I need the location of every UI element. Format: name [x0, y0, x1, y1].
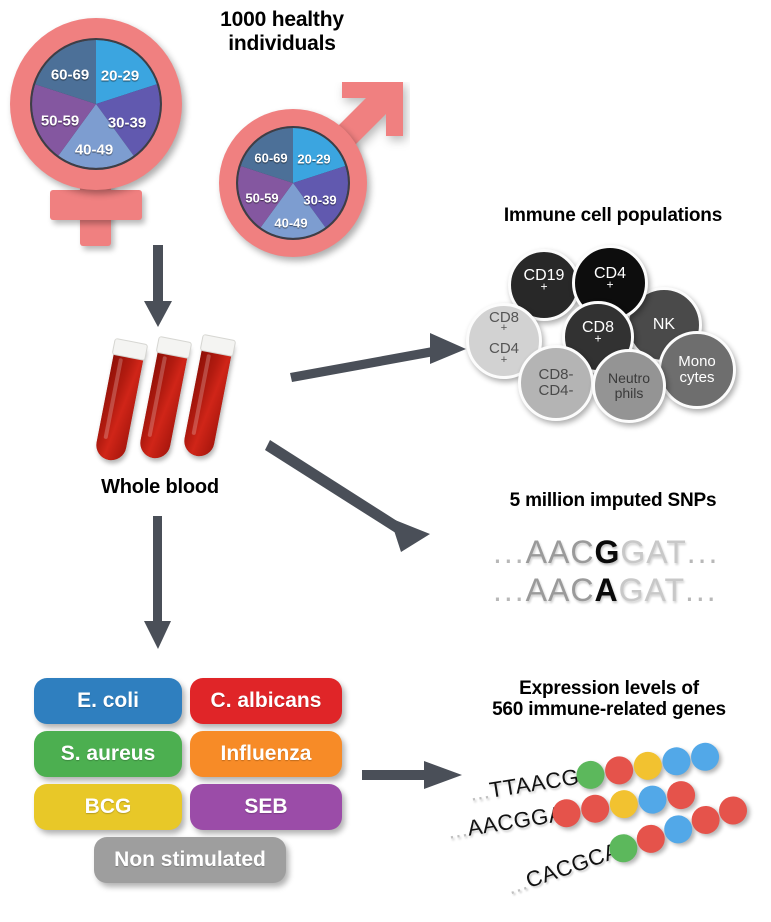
stimulus-influenza[interactable]: Influenza — [190, 731, 342, 777]
stimulus-label: C. albicans — [211, 689, 322, 713]
female-age-label-30-39: 30-39 — [108, 115, 146, 132]
snp-prefix: AAC — [526, 534, 595, 570]
stimulus-label: Non stimulated — [114, 848, 266, 872]
male-gender-symbol: 20-29 30-39 40-49 50-59 60-69 — [205, 82, 410, 250]
cell-dp-line2: CD4+ — [489, 341, 519, 372]
figure-canvas: 1000 healthy individuals 20-29 30-39 — [0, 0, 771, 922]
stimulus-bcg[interactable]: BCG — [34, 784, 182, 830]
stimulus-s-aureus[interactable]: S. aureus — [34, 731, 182, 777]
blood-tubes-group — [108, 340, 248, 475]
stimulus-label: BCG — [85, 795, 132, 819]
cell-neutro-line1: Neutro — [608, 371, 650, 386]
snp-leading-dots: ... — [493, 572, 526, 608]
male-age-pie: 20-29 30-39 40-49 50-59 60-69 — [236, 126, 350, 240]
stimulus-seb[interactable]: SEB — [190, 784, 342, 830]
expression-bead — [632, 750, 664, 782]
cell-mono-line1: Mono — [678, 354, 716, 370]
male-age-label-40-49: 40-49 — [274, 216, 307, 231]
cell-monocytes: Mono cytes — [658, 331, 736, 409]
stimulus-c-albicans[interactable]: C. albicans — [190, 678, 342, 724]
female-age-label-50-59: 50-59 — [41, 113, 79, 130]
snps-title: 5 million imputed SNPs — [455, 490, 771, 511]
snp-sequence-row: ...AACAGAT... — [493, 572, 718, 609]
cell-dn-line2: CD4- — [538, 383, 573, 399]
snp-variant-allele: G — [594, 534, 620, 570]
arrow-cohort-to-blood — [138, 245, 178, 335]
stimulus-non-stimulated[interactable]: Non stimulated — [94, 837, 286, 883]
male-age-label-30-39: 30-39 — [303, 193, 336, 208]
female-gender-symbol: 20-29 30-39 40-49 50-59 60-69 — [10, 18, 185, 243]
cell-mono-line2: cytes — [679, 370, 714, 386]
immune-cells-group: NK CD19+ CD4+ CD8+ CD8+ CD4+ CD8- CD4- N… — [462, 245, 758, 427]
female-age-label-60-69: 60-69 — [51, 67, 89, 84]
cohort-title: 1000 healthy individuals — [176, 8, 388, 55]
female-age-label-20-29: 20-29 — [101, 68, 139, 85]
cell-neutro-line2: phils — [615, 386, 644, 401]
arrow-blood-to-immune-cells — [290, 330, 480, 390]
male-age-label-60-69: 60-69 — [254, 151, 287, 166]
blood-tube — [94, 341, 146, 463]
cell-cd19-label: CD19+ — [524, 268, 565, 301]
arrow-blood-to-snps — [270, 440, 460, 570]
cell-cd4-label: CD4+ — [594, 266, 626, 299]
snp-trailing-dots: ... — [687, 534, 720, 570]
cohort-title-line2: individuals — [176, 32, 388, 56]
expression-bead — [579, 793, 611, 825]
snp-prefix: AAC — [526, 572, 595, 608]
expression-bead — [603, 754, 635, 786]
stimulus-label: Influenza — [220, 742, 311, 766]
expression-title-line1: Expression levels of — [450, 678, 768, 699]
stimulus-label: E. coli — [77, 689, 139, 713]
cohort-title-line1: 1000 healthy — [176, 8, 388, 32]
expression-title-line2: 560 immune-related genes — [450, 699, 768, 720]
cell-cd8-cd4-double-negative: CD8- CD4- — [518, 345, 594, 421]
immune-cells-title: Immune cell populations — [455, 205, 771, 226]
snp-leading-dots: ... — [493, 534, 526, 570]
cell-cd8-label: CD8+ — [582, 320, 614, 353]
stimulus-label: SEB — [244, 795, 287, 819]
expression-bead — [608, 788, 640, 820]
snp-trailing-dots: ... — [685, 572, 718, 608]
cell-nk-label: NK — [653, 317, 675, 334]
expression-bead — [660, 745, 692, 777]
female-age-label-40-49: 40-49 — [75, 142, 113, 159]
snp-suffix: GAT — [620, 534, 686, 570]
expression-bead — [636, 784, 668, 816]
stimulus-label: S. aureus — [61, 742, 156, 766]
female-age-pie: 20-29 30-39 40-49 50-59 60-69 — [30, 38, 162, 170]
expression-bead — [689, 741, 721, 773]
expression-strands-group: ...TTAACGG ...AACGGAT ...CACGCAA — [450, 745, 771, 910]
whole-blood-label: Whole blood — [60, 476, 260, 498]
cell-neutrophils: Neutro phils — [592, 349, 666, 423]
snp-variant-allele: A — [594, 572, 618, 608]
expression-bead — [715, 793, 751, 829]
stimuli-group: E. coli C. albicans S. aureus Influenza … — [34, 678, 354, 898]
expression-title: Expression levels of 560 immune-related … — [450, 678, 768, 721]
male-age-label-50-59: 50-59 — [245, 191, 278, 206]
snp-sequence-row: ...AACGGAT... — [493, 534, 719, 571]
arrow-blood-to-stimuli — [138, 516, 178, 656]
snp-suffix: GAT — [619, 572, 685, 608]
cell-dn-line1: CD8- — [538, 367, 573, 383]
cell-dp-line1: CD8+ — [489, 310, 519, 341]
stimulus-e-coli[interactable]: E. coli — [34, 678, 182, 724]
male-age-label-20-29: 20-29 — [297, 152, 330, 167]
female-symbol-crossbar — [50, 190, 142, 220]
